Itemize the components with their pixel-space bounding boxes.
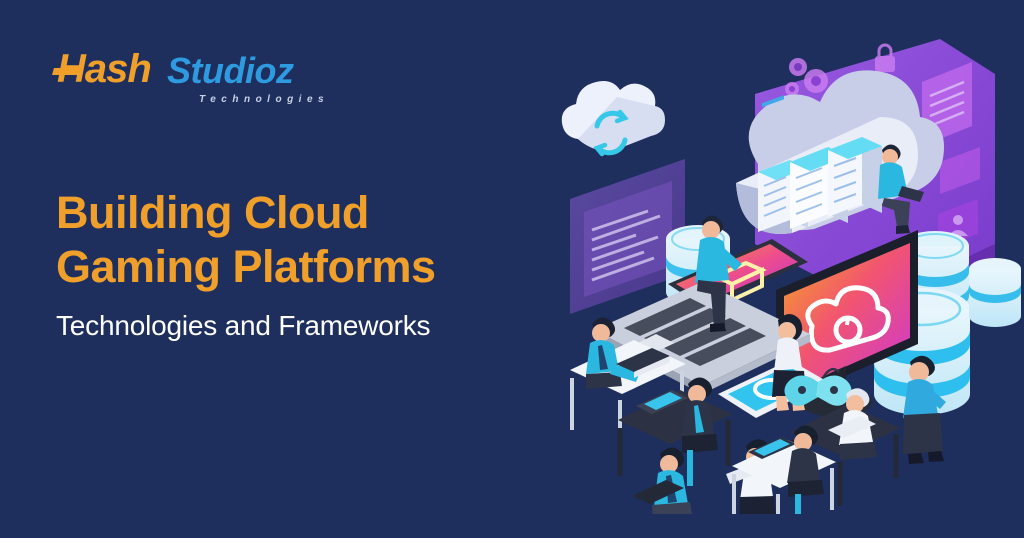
logo-text-studioz: Studioz — [167, 48, 293, 94]
headline-line-2: Gaming Platforms — [56, 240, 576, 294]
logo-tagline: Technologies — [199, 94, 329, 105]
person-bottom-left — [632, 447, 693, 514]
headline-block: Building Cloud Gaming Platforms Technolo… — [56, 186, 576, 342]
sync-cloud-icon — [562, 81, 665, 154]
database-cylinder-corner — [969, 258, 1021, 327]
headline-line-1: Building Cloud — [56, 186, 576, 240]
lock-icon — [875, 45, 895, 72]
logo-wordmark: Hash Studioz — [55, 46, 305, 92]
banner: Hash Studioz Technologies Building Cloud… — [0, 0, 1024, 538]
logo[interactable]: Hash Studioz Technologies — [55, 46, 305, 118]
logo-text-hash: Hash — [57, 46, 151, 92]
hero-illustration — [540, 34, 1024, 514]
headline-subtitle: Technologies and Frameworks — [56, 310, 576, 342]
